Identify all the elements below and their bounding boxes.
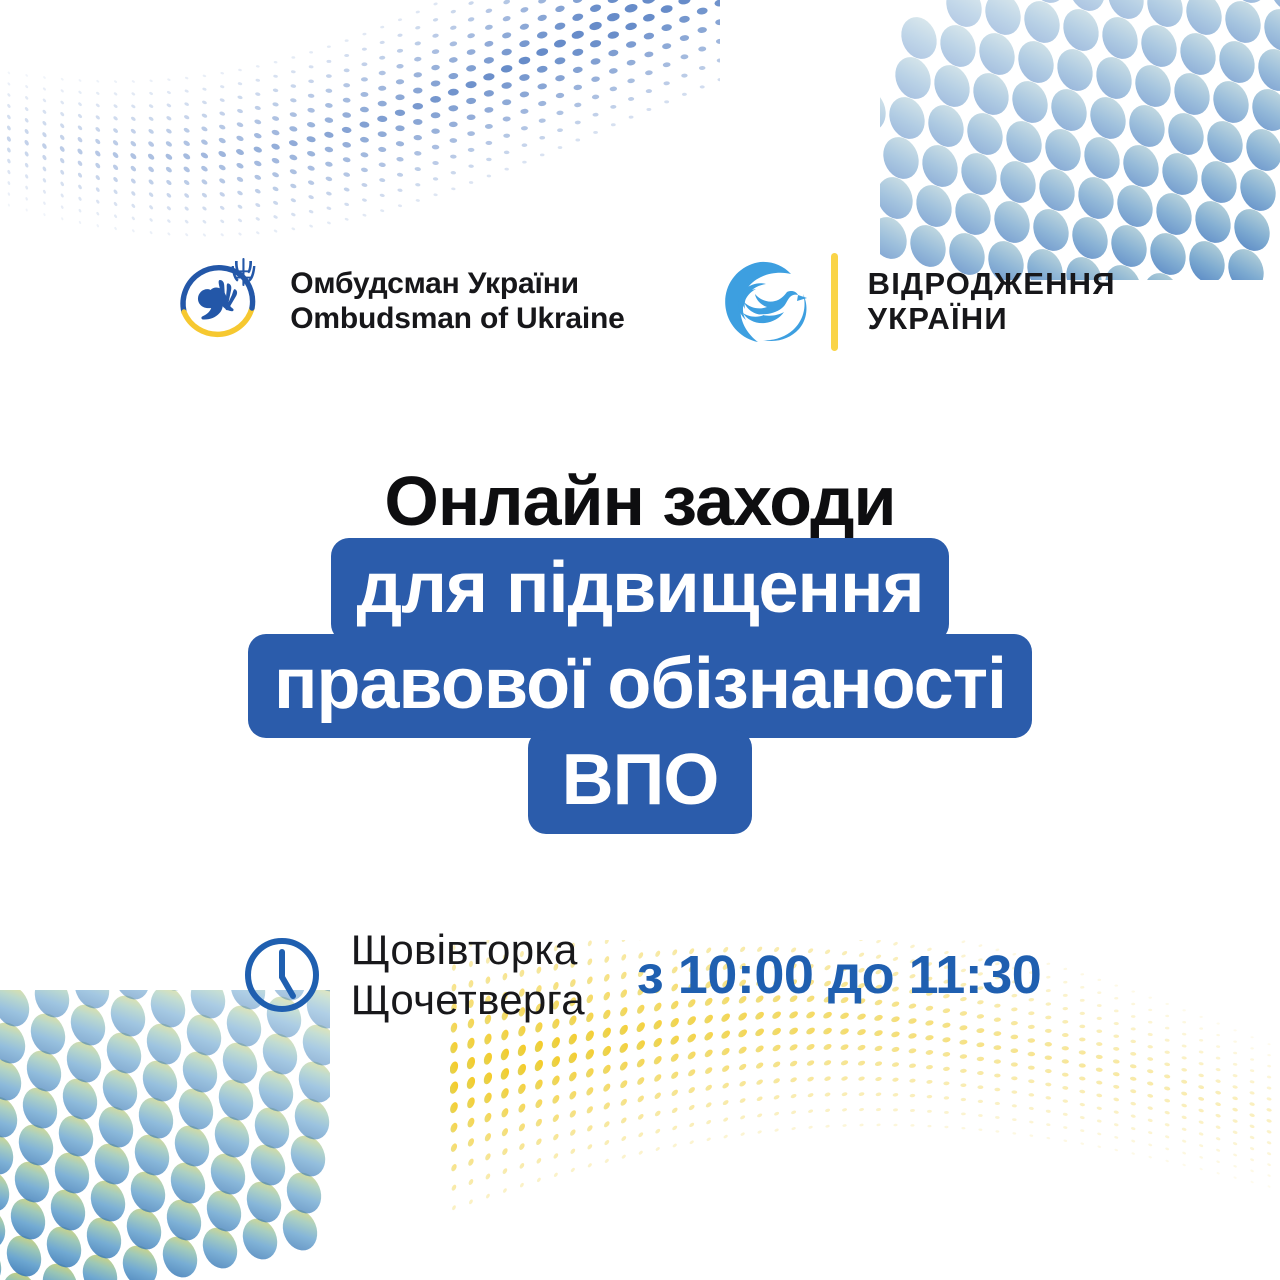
logo-row: Омбудсман України Ombudsman of Ukraine [0,246,1280,358]
headline-boxed-line-2: правової обізнаності [248,634,1032,738]
logo-vidrodzhennya: ВІДРОДЖЕННЯ УКРАЇНИ [717,253,1116,351]
ombudsman-emblem-icon [164,246,276,358]
poster-canvas: Омбудсман України Ombudsman of Ukraine [0,0,1280,1280]
headline-boxed-line-1: для підвищення [331,538,950,642]
headline-boxed-line-3: ВПО [528,730,753,834]
phoenix-emblem-icon [717,254,813,350]
decorative-dot-grid-bottom-left [0,990,330,1280]
vidrodzhennya-wordmark: ВІДРОДЖЕННЯ УКРАЇНИ [868,267,1116,336]
headline-plain-line: Онлайн заходи [378,466,901,546]
vidrodzhennya-line-1: ВІДРОДЖЕННЯ [868,267,1116,302]
schedule-time: з 10:00 до 11:30 [637,944,1041,1006]
logo-ombudsman: Омбудсман України Ombudsman of Ukraine [164,246,624,358]
ombudsman-wordmark: Омбудсман України Ombudsman of Ukraine [290,267,624,337]
schedule-day-2: Щочетверга [351,975,585,1025]
schedule-days: Щовівторка Щочетверга [351,925,585,1024]
ombudsman-name-en: Ombudsman of Ukraine [290,302,624,337]
clock-icon [239,932,325,1018]
vidrodzhennya-line-2: УКРАЇНИ [868,302,1116,337]
headline: Онлайн заходи для підвищення правової об… [0,466,1280,834]
logo-divider [831,253,838,351]
schedule-row: Щовівторка Щочетверга з 10:00 до 11:30 [0,925,1280,1024]
schedule-day-1: Щовівторка [351,925,585,975]
decorative-dot-grid-top-right [880,0,1280,280]
ombudsman-name-uk: Омбудсман України [290,267,624,302]
